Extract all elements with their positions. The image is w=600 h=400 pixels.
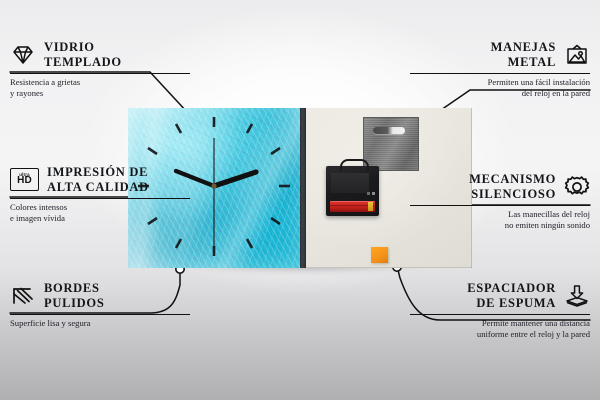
feature-bordes-pulidos: BORDES PULIDOS Superficie lisa y segura bbox=[0, 281, 200, 329]
feature-desc-line1: Las manecillas del reloj bbox=[508, 209, 590, 219]
movement-dot bbox=[372, 192, 375, 195]
feature-desc-line2: uniforme entre el reloj y la pared bbox=[477, 329, 590, 339]
picture-frame-hanger-icon bbox=[564, 43, 590, 67]
feature-divider bbox=[10, 73, 190, 74]
clock-movement-box bbox=[326, 166, 379, 216]
feature-desc-line1: Resistencia a grietas bbox=[10, 77, 80, 87]
feature-mecanismo-silencioso: MECANISMO SILENCIOSO Las manecillas del … bbox=[400, 172, 600, 231]
feature-desc-line2: del reloj en la pared bbox=[522, 88, 590, 98]
feature-desc-line1: Superficie lisa y segura bbox=[10, 318, 90, 328]
feature-vidrio-templado: VIDRIO TEMPLADO Resistencia a grietas y … bbox=[0, 40, 200, 99]
feature-manejas-metal: MANEJAS METAL Permiten una fácil instala… bbox=[400, 40, 600, 99]
feature-desc-line1: Permiten una fácil instalación bbox=[488, 77, 590, 87]
feature-divider bbox=[410, 205, 590, 206]
hanger-loop bbox=[340, 159, 369, 171]
feature-desc-line2: y rayones bbox=[10, 88, 43, 98]
feature-title-line2: METAL bbox=[508, 55, 556, 69]
feature-title-line2: ALTA CALIDAD bbox=[47, 180, 149, 194]
feature-desc-line2: no emiten ningún sonido bbox=[505, 220, 590, 230]
feature-desc-line2: e imagen vívida bbox=[10, 213, 65, 223]
feature-impresion-alta-calidad: ultra HD IMPRESIÓN DE ALTA CALIDAD Color… bbox=[0, 165, 200, 224]
feature-title-line2: DE ESPUMA bbox=[476, 296, 556, 310]
feature-title-line1: ESPACIADOR bbox=[467, 281, 556, 295]
clock-center-cap bbox=[211, 183, 216, 188]
movement-dot bbox=[367, 192, 370, 195]
hanger-keyhole-slot bbox=[373, 127, 405, 134]
ultra-hd-big-label: HD bbox=[17, 176, 32, 186]
battery-cap bbox=[368, 202, 373, 211]
foam-spacer bbox=[371, 247, 388, 263]
metal-hanger-plate bbox=[363, 117, 419, 171]
feature-title-line1: MANEJAS bbox=[491, 40, 556, 54]
foam-spacer-arrow-icon bbox=[564, 284, 590, 308]
feature-title-line2: PULIDOS bbox=[44, 296, 104, 310]
feature-title-line1: BORDES bbox=[44, 281, 100, 295]
feature-title-line2: TEMPLADO bbox=[44, 55, 122, 69]
hour-hand bbox=[214, 172, 256, 186]
feature-divider bbox=[410, 314, 590, 315]
feature-espaciador-espuma: ESPACIADOR DE ESPUMA Permite mantener un… bbox=[400, 281, 600, 340]
feature-title-line1: MECANISMO bbox=[469, 172, 556, 186]
feature-divider bbox=[10, 198, 190, 199]
feature-divider bbox=[410, 73, 590, 74]
feature-divider bbox=[10, 314, 190, 315]
ultra-hd-icon: ultra HD bbox=[10, 168, 39, 191]
feature-desc-line1: Permite mantener una distancia bbox=[482, 318, 590, 328]
feature-title-line1: VIDRIO bbox=[44, 40, 95, 54]
diamond-icon bbox=[10, 43, 36, 67]
feature-title-line1: IMPRESIÓN DE bbox=[47, 165, 148, 179]
gear-icon bbox=[564, 175, 590, 199]
polished-edges-icon bbox=[10, 284, 36, 308]
battery bbox=[330, 201, 375, 212]
feature-desc-line1: Colores intensos bbox=[10, 202, 67, 212]
feature-title-line2: SILENCIOSO bbox=[471, 187, 556, 201]
infographic-canvas: VIDRIO TEMPLADO Resistencia a grietas y … bbox=[0, 0, 600, 400]
movement-panel bbox=[331, 173, 369, 193]
